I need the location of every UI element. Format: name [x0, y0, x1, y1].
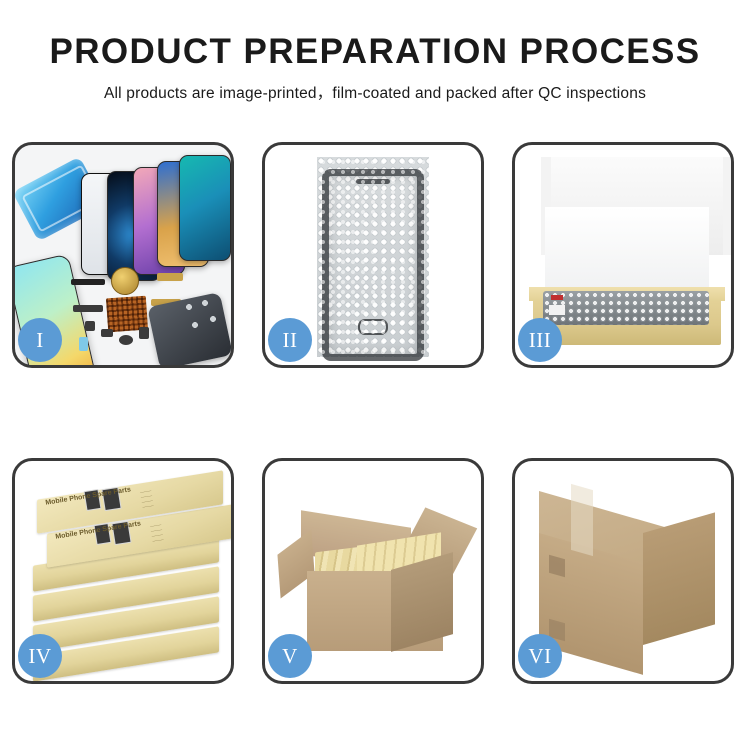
home-button — [358, 319, 388, 335]
step-badge-6: VI — [518, 634, 562, 678]
wrapped-screen-in-box — [543, 291, 709, 325]
step-badge-4: IV — [18, 634, 62, 678]
white-label-mark — [549, 305, 565, 315]
page-header: PRODUCT PREPARATION PROCESS All products… — [0, 0, 750, 103]
flex-cable-1 — [71, 279, 105, 285]
carton-right-face-sealed — [643, 512, 715, 645]
process-step-3: III — [512, 142, 734, 368]
flex-cable-2 — [157, 273, 183, 281]
white-foam-padding — [545, 207, 709, 295]
speaker-component — [111, 267, 139, 295]
small-part-3 — [119, 335, 133, 345]
process-step-5: V — [262, 458, 484, 684]
red-label-mark — [551, 295, 563, 300]
small-part-4 — [139, 327, 149, 339]
flex-cable-4 — [73, 305, 103, 312]
step-badge-3: III — [518, 318, 562, 362]
process-step-grid: I II III — [12, 142, 738, 684]
carton-right-face — [391, 552, 453, 652]
step-badge-5: V — [268, 634, 312, 678]
screws-cluster — [181, 295, 221, 335]
step-badge-1: I — [18, 318, 62, 362]
small-part-1 — [85, 321, 95, 331]
small-part-2 — [101, 329, 113, 337]
page-subtitle: All products are image-printed，film-coat… — [0, 81, 750, 103]
process-step-6: VI — [512, 458, 734, 684]
phone-screen-teal — [179, 155, 231, 261]
earpiece-slot — [356, 179, 390, 184]
process-step-4: Mobile Phone Spare Parts Mobile Phone Sp… — [12, 458, 234, 684]
process-step-1: I — [12, 142, 234, 368]
step-badge-2: II — [268, 318, 312, 362]
process-step-2: II — [262, 142, 484, 368]
page-title: PRODUCT PREPARATION PROCESS — [0, 34, 750, 71]
carton-seal-tape — [571, 484, 593, 556]
small-part-6 — [79, 337, 88, 351]
